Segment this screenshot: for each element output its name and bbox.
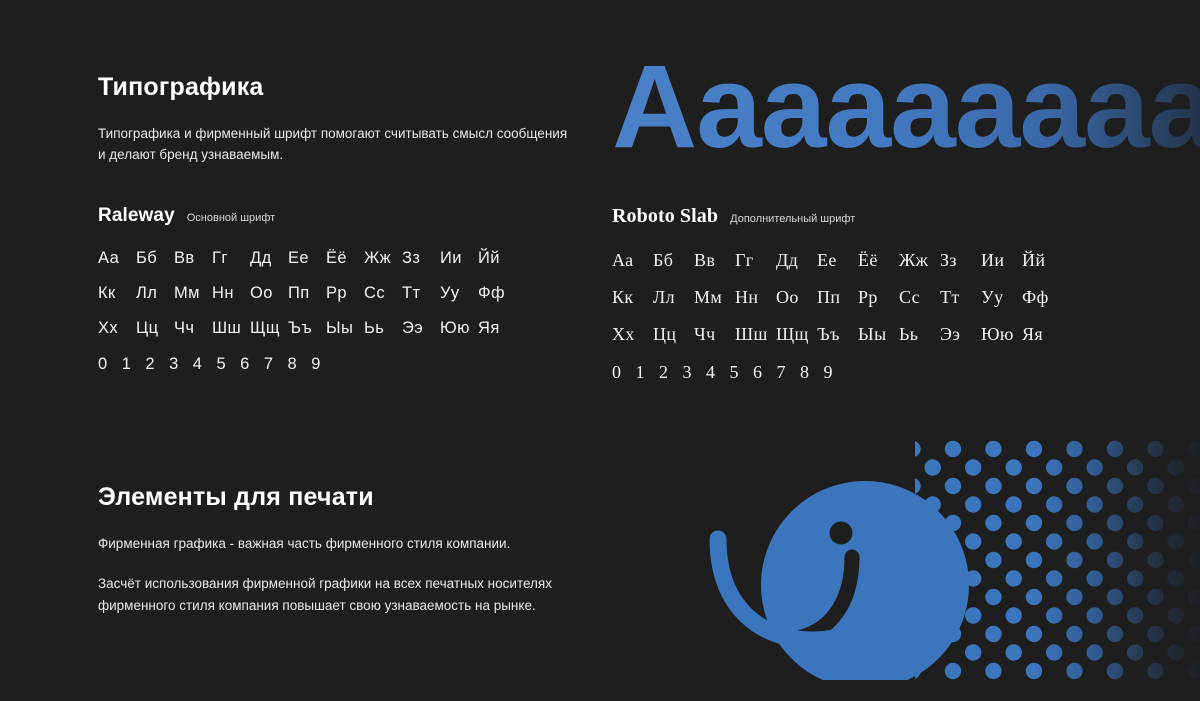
font-secondary-header: Roboto Slab Дополнительный шрифт — [612, 205, 1112, 228]
glyph-cell: Зз — [402, 249, 440, 268]
digit-cell: 5 — [730, 362, 740, 383]
digit-cell: 3 — [683, 362, 693, 383]
digit-cell: 2 — [659, 362, 669, 383]
digit-cell: 0 — [98, 355, 108, 374]
glyph-cell: Жж — [364, 249, 402, 268]
typography-intro-block: Типографика Типографика и фирменный шриф… — [98, 72, 568, 166]
digit-cell: 6 — [240, 355, 250, 374]
digit-cell: 1 — [122, 355, 132, 374]
glyph-cell: Цц — [653, 324, 694, 345]
typography-section-body: Типографика и фирменный шрифт помогают с… — [98, 124, 568, 166]
glyph-cell: Лл — [653, 287, 694, 308]
digit-cell: 7 — [777, 362, 787, 383]
glyph-cell: Мм — [174, 284, 212, 303]
glyph-cell: Оо — [776, 287, 817, 308]
glyph-cell: Тт — [402, 284, 440, 303]
glyph-cell: Вв — [174, 249, 212, 268]
print-section-block: Элементы для печати Фирменная графика - … — [98, 482, 568, 617]
glyph-cell: Ьь — [364, 319, 402, 338]
print-section-body-first: Фирменная графика - важная часть фирменн… — [98, 534, 568, 555]
print-section-body-second: Засчёт использования фирменной графики н… — [98, 573, 568, 617]
digit-cell: 5 — [216, 355, 226, 374]
digit-cell: 9 — [311, 355, 321, 374]
glyph-cell: Ее — [817, 250, 858, 271]
glyph-cell: Бб — [136, 249, 174, 268]
glyph-cell: Ии — [981, 250, 1022, 271]
digit-cell: 9 — [824, 362, 834, 383]
glyph-cell: Дд — [776, 250, 817, 271]
glyph-cell: Яя — [478, 319, 516, 338]
font-block-secondary: Roboto Slab Дополнительный шрифт АаБбВвГ… — [612, 205, 1112, 383]
font-primary-glyph-grid: АаБбВвГгДдЕеЁёЖжЗзИиЙйКкЛлМмНнОоПпРрСсТт… — [98, 249, 568, 338]
glyph-cell: Хх — [98, 319, 136, 338]
glyph-cell: Чч — [694, 324, 735, 345]
font-primary-digit-row: 0123456789 — [98, 355, 568, 374]
glyph-cell: Гг — [735, 250, 776, 271]
glyph-cell: Йй — [1022, 250, 1063, 271]
glyph-cell: Уу — [440, 284, 478, 303]
glyph-cell: Бб — [653, 250, 694, 271]
slide-canvas: Типографика Типографика и фирменный шриф… — [0, 0, 1200, 701]
glyph-cell: Ёё — [858, 250, 899, 271]
digit-cell: 1 — [636, 362, 646, 383]
glyph-cell: Нн — [212, 284, 250, 303]
glyph-cell: Сс — [364, 284, 402, 303]
glyph-cell: Ээ — [940, 324, 981, 345]
display-type-specimen: Aaaaaaaaaaa — [612, 48, 1200, 166]
glyph-cell: Ъъ — [288, 319, 326, 338]
glyph-cell: Ёё — [326, 249, 364, 268]
glyph-cell: Жж — [899, 250, 940, 271]
digit-cell: 3 — [169, 355, 179, 374]
digit-cell: 8 — [800, 362, 810, 383]
font-secondary-digit-row: 0123456789 — [612, 362, 1112, 383]
glyph-cell: Лл — [136, 284, 174, 303]
glyph-cell: Цц — [136, 319, 174, 338]
glyph-cell: Ъъ — [817, 324, 858, 345]
digit-cell: 2 — [145, 355, 155, 374]
glyph-cell: Сс — [899, 287, 940, 308]
font-secondary-glyph-grid: АаБбВвГгДдЕеЁёЖжЗзИиЙйКкЛлМмНнОоПпРрСсТт… — [612, 250, 1112, 345]
glyph-cell: Ээ — [402, 319, 440, 338]
font-block-primary: Raleway Основной шрифт АаБбВвГгДдЕеЁёЖжЗ… — [98, 205, 568, 374]
print-section-title: Элементы для печати — [98, 482, 568, 512]
glyph-cell: Йй — [478, 249, 516, 268]
glyph-cell: Кк — [612, 287, 653, 308]
glyph-cell: Кк — [98, 284, 136, 303]
glyph-cell: Юю — [440, 319, 478, 338]
glyph-cell: Рр — [858, 287, 899, 308]
digit-cell: 0 — [612, 362, 622, 383]
glyph-cell: Зз — [940, 250, 981, 271]
glyph-cell: Вв — [694, 250, 735, 271]
brand-dot-pattern — [915, 440, 1200, 680]
glyph-cell: Фф — [478, 284, 516, 303]
glyph-cell: Щщ — [250, 319, 288, 338]
glyph-cell: Щщ — [776, 324, 817, 345]
glyph-cell: Нн — [735, 287, 776, 308]
glyph-cell: Чч — [174, 319, 212, 338]
glyph-cell: Гг — [212, 249, 250, 268]
display-type-sample-text: Aaaaaaaaaaa — [612, 48, 1200, 166]
glyph-cell: Шш — [735, 324, 776, 345]
glyph-cell: Ии — [440, 249, 478, 268]
glyph-cell: Ыы — [858, 324, 899, 345]
glyph-cell: Шш — [212, 319, 250, 338]
font-secondary-name: Roboto Slab — [612, 205, 718, 228]
glyph-cell: Тт — [940, 287, 981, 308]
font-secondary-role: Дополнительный шрифт — [730, 213, 855, 225]
digit-cell: 7 — [264, 355, 274, 374]
glyph-cell: Пп — [817, 287, 858, 308]
font-primary-header: Raleway Основной шрифт — [98, 205, 568, 227]
typography-section-title: Типографика — [98, 72, 568, 102]
brand-graphic-svg — [700, 440, 1200, 680]
font-primary-name: Raleway — [98, 205, 175, 227]
glyph-cell: Ьь — [899, 324, 940, 345]
glyph-cell: Уу — [981, 287, 1022, 308]
glyph-cell: Хх — [612, 324, 653, 345]
glyph-cell: Аа — [98, 249, 136, 268]
glyph-cell: Пп — [288, 284, 326, 303]
brand-graphic — [700, 440, 1200, 680]
glyph-cell: Фф — [1022, 287, 1063, 308]
glyph-cell: Рр — [326, 284, 364, 303]
glyph-cell: Аа — [612, 250, 653, 271]
digit-cell: 8 — [288, 355, 298, 374]
glyph-cell: Дд — [250, 249, 288, 268]
digit-cell: 6 — [753, 362, 763, 383]
glyph-cell: Юю — [981, 324, 1022, 345]
digit-cell: 4 — [193, 355, 203, 374]
glyph-cell: Ее — [288, 249, 326, 268]
glyph-cell: Яя — [1022, 324, 1063, 345]
glyph-cell: Ыы — [326, 319, 364, 338]
font-primary-role: Основной шрифт — [187, 212, 275, 224]
glyph-cell: Оо — [250, 284, 288, 303]
digit-cell: 4 — [706, 362, 716, 383]
glyph-cell: Мм — [694, 287, 735, 308]
